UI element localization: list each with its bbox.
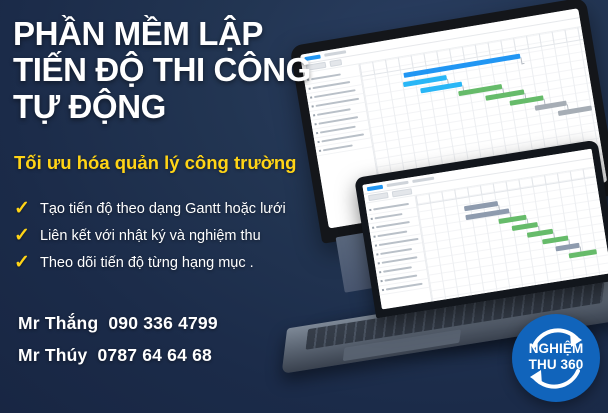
row-bullet-icon [375, 244, 377, 246]
contact-phone[interactable]: 0787 64 64 68 [97, 345, 212, 365]
row-bullet-icon [372, 227, 374, 229]
row-bullet-icon [382, 289, 384, 291]
contact-phone[interactable]: 090 336 4799 [108, 313, 217, 333]
app-tab[interactable] [386, 181, 408, 187]
badge-line-2: THU 360 [512, 357, 600, 373]
gantt-app-laptop [362, 149, 608, 310]
laptop-screen [362, 149, 608, 310]
list-item-label: Tạo tiến độ theo dạng Gantt hoặc lưới [40, 201, 286, 217]
app-tab[interactable] [412, 177, 434, 183]
headline-line-2: TIẾN ĐỘ THI CÔNG [13, 52, 358, 88]
badge-label: NGHIỆM THU 360 [512, 341, 600, 373]
list-item: ✓ Liên kết với nhật ký và nghiệm thu [14, 222, 286, 249]
gantt-bar[interactable] [498, 215, 526, 224]
contact-row: Mr Thúy0787 64 64 68 [18, 345, 218, 377]
headline-line-3: TỰ ĐỘNG [13, 89, 358, 125]
check-icon: ✓ [14, 253, 40, 272]
headline-line-1: PHẦN MỀM LẬP [13, 16, 358, 52]
row-bullet-icon [369, 209, 371, 211]
row-bullet-icon [376, 253, 378, 255]
row-bullet-icon [371, 218, 373, 220]
row-bullet-icon [373, 236, 375, 238]
contact-name: Mr Thắng [18, 313, 98, 333]
gantt-bar[interactable] [512, 222, 538, 231]
task-label [375, 213, 403, 219]
app-logo [367, 184, 383, 190]
list-item-label: Liên kết với nhật ký và nghiệm thu [40, 228, 261, 244]
feature-list: ✓ Tạo tiến độ theo dạng Gantt hoặc lưới … [14, 195, 286, 276]
badge-line-1: NGHIỆM [512, 341, 600, 357]
row-bullet-icon [380, 280, 382, 282]
gantt-bar[interactable] [569, 249, 597, 258]
list-item-label: Theo dõi tiến độ từng hạng mục . [40, 255, 254, 271]
subheadline: Tối ưu hóa quản lý công trường [14, 152, 297, 174]
list-item: ✓ Theo dõi tiến độ từng hạng mục . [14, 249, 286, 276]
status-badge[interactable]: NGHIỆM THU 360 [512, 314, 600, 402]
gantt-bar[interactable] [527, 229, 553, 238]
row-bullet-icon [378, 262, 380, 264]
check-icon: ✓ [14, 226, 40, 245]
gantt-bar[interactable] [555, 243, 579, 252]
row-bullet-icon [379, 271, 381, 273]
task-label [386, 283, 423, 291]
task-label [383, 266, 412, 273]
page-title: PHẦN MỀM LẬP TIẾN ĐỘ THI CÔNG TỰ ĐỘNG [13, 16, 358, 125]
text-content: PHẦN MỀM LẬP TIẾN ĐỘ THI CÔNG TỰ ĐỘNG Tố… [0, 0, 360, 413]
check-icon: ✓ [14, 199, 40, 218]
gantt-dependency-link [520, 57, 524, 64]
contact-name: Mr Thúy [18, 345, 87, 365]
contact-row: Mr Thắng090 336 4799 [18, 313, 218, 345]
promo-banner: PHẦN MỀM LẬP TIẾN ĐỘ THI CÔNG TỰ ĐỘNG Tố… [0, 0, 608, 413]
contact-info: Mr Thắng090 336 4799 Mr Thúy0787 64 64 6… [18, 313, 218, 377]
gantt-bar[interactable] [558, 105, 592, 116]
gantt-bar[interactable] [542, 235, 568, 244]
list-item: ✓ Tạo tiến độ theo dạng Gantt hoặc lưới [14, 195, 286, 222]
